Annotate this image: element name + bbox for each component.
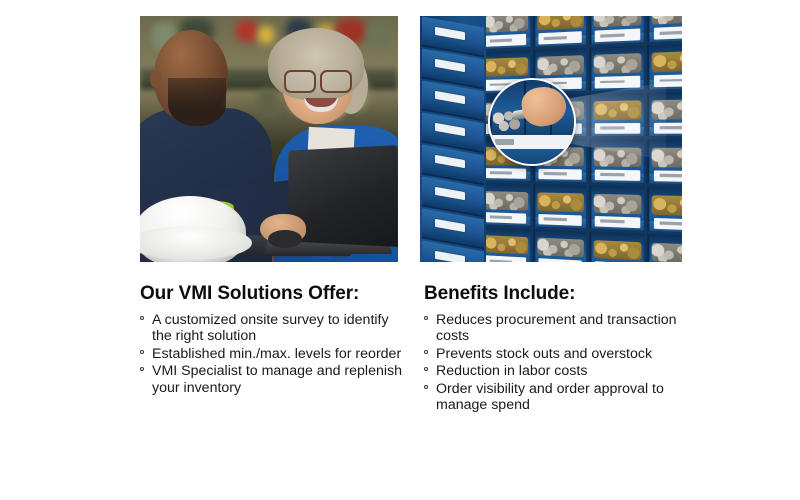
background-blur-blob <box>366 24 392 46</box>
parts-bin <box>589 140 644 184</box>
parts-bin <box>533 229 585 262</box>
list-item: Reduction in labor costs <box>424 363 686 379</box>
bullet-list-benefits: Reduces procurement and transaction cost… <box>424 312 686 413</box>
list-item: Order visibility and order approval to m… <box>424 381 686 414</box>
column-vmi-solutions <box>140 16 398 262</box>
parts-bin <box>589 232 644 262</box>
list-item-text: A customized onsite survey to identify t… <box>152 312 389 344</box>
parts-bin <box>480 227 530 262</box>
parts-bin <box>647 140 682 185</box>
heading-vmi-solutions: Our VMI Solutions Offer: <box>140 283 410 305</box>
parts-bin <box>533 16 585 47</box>
woman-eyeglasses <box>284 70 352 89</box>
heading-benefits: Benefits Include: <box>424 283 686 305</box>
man-ear <box>150 70 162 88</box>
parts-bin <box>647 234 682 262</box>
parts-bin <box>533 184 585 228</box>
vmi-specialist-meeting-photo <box>140 16 398 262</box>
background-blur-blob <box>258 88 278 118</box>
parts-bin <box>647 16 682 42</box>
bullet-circle-icon <box>140 350 144 354</box>
list-item-text: Reduction in labor costs <box>436 363 587 379</box>
parts-bin <box>647 187 682 233</box>
bullet-circle-icon <box>424 385 428 389</box>
magnifier-inset-circle <box>488 78 576 166</box>
list-item-text: Established min./max. levels for reorder <box>152 346 401 362</box>
list-item: Reduces procurement and transaction cost… <box>424 312 686 345</box>
man-beard <box>168 78 226 126</box>
parts-bin <box>480 183 530 226</box>
list-item: A customized onsite survey to identify t… <box>140 312 410 345</box>
parts-bin <box>647 43 682 89</box>
text-block-vmi-solutions: Our VMI Solutions Offer: A customized on… <box>140 283 410 397</box>
computer-mouse <box>268 230 302 248</box>
inset-bin-lower <box>490 149 574 164</box>
list-item-text: Prevents stock outs and overstock <box>436 346 652 362</box>
bullet-circle-icon <box>424 367 428 371</box>
bullet-circle-icon <box>424 350 428 354</box>
list-item-text: Order visibility and order approval to m… <box>436 381 664 413</box>
bullet-circle-icon <box>424 316 428 320</box>
inset-bin-label <box>490 135 574 148</box>
bullet-circle-icon <box>140 367 144 371</box>
parts-bin <box>589 16 644 44</box>
list-item: Established min./max. levels for reorder <box>140 346 410 362</box>
list-item: VMI Specialist to manage and replenish y… <box>140 363 410 396</box>
bullet-circle-icon <box>140 316 144 320</box>
parts-bin <box>589 186 644 231</box>
parts-bin <box>480 16 530 49</box>
parts-bin-wall-photo <box>420 16 682 262</box>
parts-bin <box>647 91 682 136</box>
parts-bin <box>589 45 644 90</box>
drawer-cabinet-column <box>420 16 486 262</box>
list-item-text: VMI Specialist to manage and replenish y… <box>152 363 402 395</box>
column-benefits <box>420 16 682 262</box>
list-item-text: Reduces procurement and transaction cost… <box>436 312 677 344</box>
parts-bin <box>589 92 644 136</box>
slide-canvas: Our VMI Solutions Offer: A customized on… <box>0 0 800 500</box>
background-blur-blob <box>258 26 274 44</box>
text-block-benefits: Benefits Include: Reduces procurement an… <box>424 283 686 414</box>
background-blur-blob <box>236 20 258 42</box>
bullet-list-vmi-solutions: A customized onsite survey to identify t… <box>140 312 410 396</box>
list-item: Prevents stock outs and overstock <box>424 346 686 362</box>
